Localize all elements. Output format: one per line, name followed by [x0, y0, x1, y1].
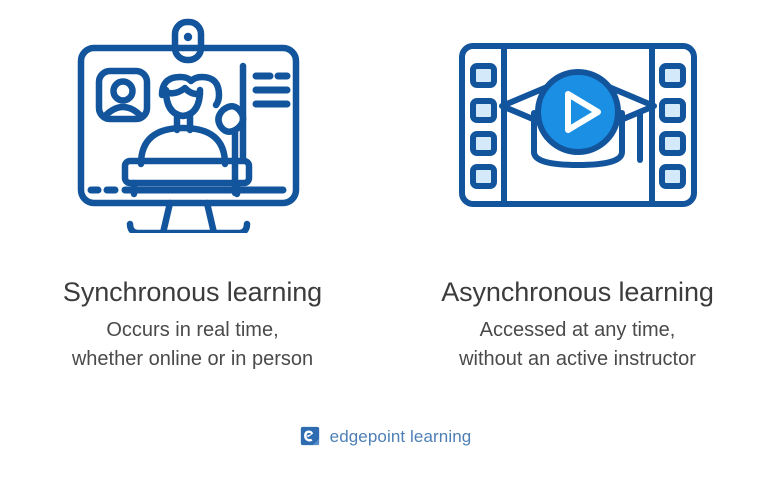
comparison-columns: Synchronous learning Occurs in real time…	[0, 0, 770, 400]
avatar-shoulders-icon	[105, 107, 141, 116]
play-button-circle	[538, 72, 618, 152]
column-description-synchronous: Occurs in real time, whether online or i…	[72, 316, 313, 374]
column-description-asynchronous: Accessed at any time, without an active …	[459, 316, 696, 374]
avatar-head-icon	[113, 81, 132, 100]
column-title-asynchronous: Asynchronous learning	[441, 278, 714, 308]
monitor-stand-base	[130, 224, 247, 233]
column-title-synchronous: Synchronous learning	[63, 278, 322, 308]
film-perforations-right	[662, 66, 683, 186]
synchronous-icon-container	[0, 0, 385, 250]
edgepoint-e-mark-icon	[299, 425, 321, 447]
desktop-monitor-webcam-presenter-icon	[77, 18, 309, 233]
film-perforations-left	[473, 66, 494, 186]
film-strip-graduation-cap-play-icon	[458, 42, 698, 208]
footer-branding: edgepoint learning	[0, 425, 770, 447]
microphone-head-icon	[218, 106, 243, 132]
monitor-stand-neck	[163, 203, 214, 233]
column-synchronous: Synchronous learning Occurs in real time…	[0, 0, 385, 400]
asynchronous-icon-container	[385, 0, 770, 250]
brand-name-label: edgepoint learning	[330, 428, 472, 445]
webcam-lens-icon	[183, 32, 191, 40]
presenter-fringe	[165, 88, 200, 94]
infographic-canvas: Synchronous learning Occurs in real time…	[0, 0, 770, 481]
column-asynchronous: Asynchronous learning Accessed at any ti…	[385, 0, 770, 400]
chat-text-lines	[256, 76, 287, 104]
